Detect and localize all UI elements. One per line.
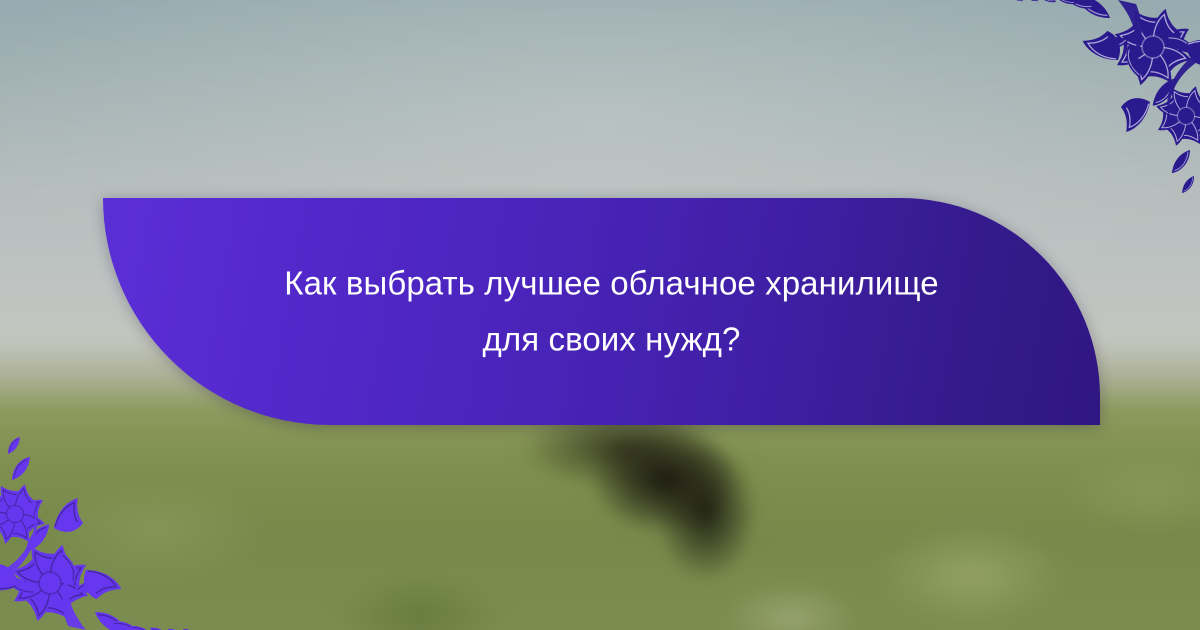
title-banner: Как выбрать лучшее облачное хранилище дл… <box>103 198 1100 425</box>
social-share-card: Как выбрать лучшее облачное хранилище дл… <box>0 0 1200 630</box>
title-banner-content: Как выбрать лучшее облачное хранилище дл… <box>223 255 1000 369</box>
page-title: Как выбрать лучшее облачное хранилище дл… <box>223 255 1000 369</box>
